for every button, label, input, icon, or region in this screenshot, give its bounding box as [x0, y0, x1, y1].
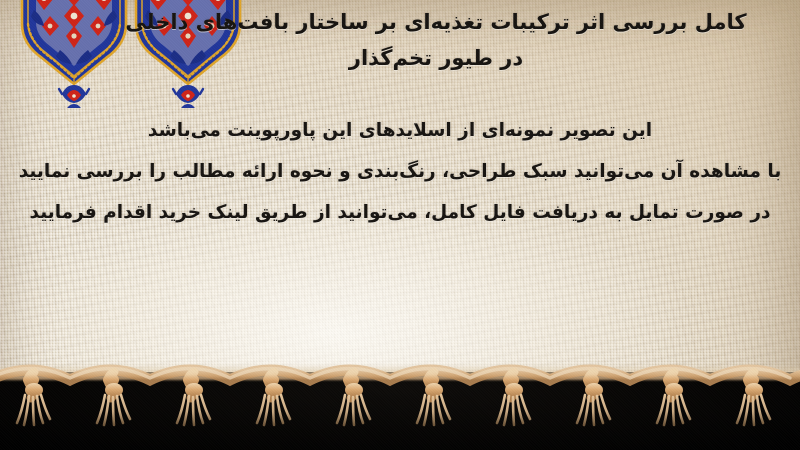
slide-body: این تصویر نمونه‌ای از اسلایدهای این پاور…	[0, 110, 800, 233]
carpet-black-band	[0, 372, 800, 450]
title-line-2: در طیور تخم‌گذار	[86, 40, 786, 76]
title-line-1: کامل بررسی اثر ترکیبات تغذیه‌ای بر ساختا…	[86, 4, 786, 40]
body-line-3: در صورت تمایل به دریافت فایل کامل، می‌تو…	[0, 192, 800, 233]
presentation-slide: کامل بررسی اثر ترکیبات تغذیه‌ای بر ساختا…	[0, 0, 800, 450]
slide-title: کامل بررسی اثر ترکیبات تغذیه‌ای بر ساختا…	[86, 4, 786, 76]
body-line-1: این تصویر نمونه‌ای از اسلایدهای این پاور…	[0, 110, 800, 151]
body-line-2: با مشاهده آن می‌توانید سبک طراحی، رنگ‌بن…	[0, 151, 800, 192]
